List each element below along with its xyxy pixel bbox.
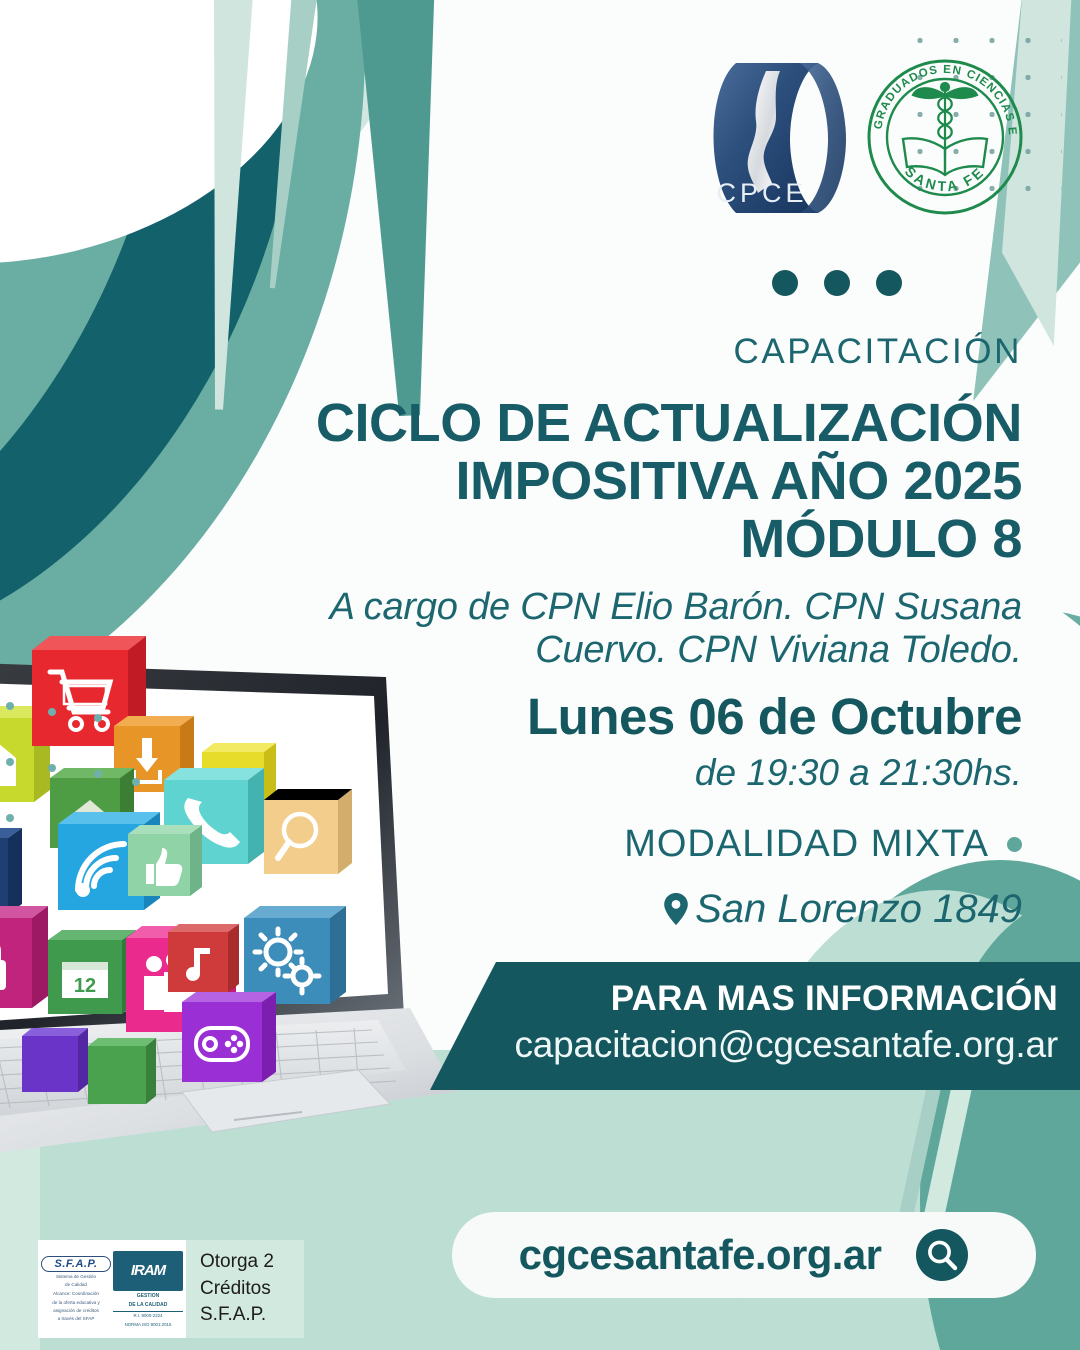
sfap-logo: S.F.A.P. Sistema de Gestión de Calidad A… — [41, 1256, 111, 1322]
divider-dot — [876, 270, 902, 296]
iram-norm-1: R.I. 9000-2224 — [113, 1311, 183, 1319]
search-icon[interactable] — [915, 1228, 969, 1282]
location-pin-icon — [663, 892, 689, 926]
kicker-label: CAPACITACIÓN — [262, 334, 1022, 369]
cgce-seal: COLEGIO DE GRADUADOS EN CIENCIAS ECONOMI… — [865, 57, 1025, 217]
speakers-text: A cargo de CPN Elio Barón. CPN Susana Cu… — [262, 586, 1022, 671]
iram-caption-2: DE LA CALIDAD — [113, 1302, 183, 1309]
quality-logos: S.F.A.P. Sistema de Gestión de Calidad A… — [38, 1240, 186, 1338]
title-line-3: MÓDULO 8 — [262, 511, 1022, 569]
sfap-mark: S.F.A.P. — [41, 1256, 111, 1272]
modality-label: MODALIDAD MIXTA — [624, 825, 989, 863]
bullet-dot-icon — [1007, 837, 1022, 852]
speakers-line-1: A cargo de CPN Elio Barón. CPN Susana — [262, 586, 1022, 629]
divider-dot — [824, 270, 850, 296]
website-url[interactable]: cgcesantafe.org.ar — [519, 1231, 882, 1279]
svg-text:12: 12 — [74, 975, 96, 997]
website-pill[interactable]: cgcesantafe.org.ar — [452, 1212, 1036, 1298]
address-label: San Lorenzo 1849 — [695, 889, 1022, 929]
event-modality: MODALIDAD MIXTA — [262, 825, 1022, 863]
sfap-caption-5: asignación de créditos — [41, 1308, 111, 1314]
sfap-caption-3: Alcance: Coordinación — [41, 1291, 111, 1297]
more-info-heading: PARA MAS INFORMACIÓN — [611, 979, 1058, 1019]
sfap-credits-box: S.F.A.P. Sistema de Gestión de Calidad A… — [38, 1240, 304, 1338]
iram-norm-2: NORMA ISO 9001:2015 — [113, 1321, 183, 1328]
dots-divider — [772, 270, 902, 296]
event-date: Lunes 06 de Octubre — [262, 691, 1022, 742]
iram-logo: IRAM GESTION DE LA CALIDAD R.I. 9000-222… — [113, 1251, 183, 1328]
main-content: CAPACITACIÓN CICLO DE ACTUALIZACIÓN IMPO… — [262, 334, 1022, 929]
title-line-2: IMPOSITIVA AÑO 2025 — [262, 453, 1022, 511]
more-info-band: PARA MAS INFORMACIÓN capacitacion@cgcesa… — [430, 962, 1080, 1090]
page-title: CICLO DE ACTUALIZACIÓN IMPOSITIVA AÑO 20… — [262, 395, 1022, 568]
logo-group: CPCE COLEGIO DE GRADUADOS EN CIENCIAS EC… — [700, 55, 1030, 230]
sfap-caption-2: de Calidad — [41, 1282, 111, 1288]
sfap-caption-6: a través del SFAP — [41, 1316, 111, 1322]
credits-line-2: Créditos — [200, 1276, 304, 1303]
sfap-caption-4: de la oferta educativa y — [41, 1300, 111, 1306]
event-time: de 19:30 a 21:30hs. — [262, 754, 1022, 791]
iram-caption-1: GESTION — [113, 1293, 183, 1300]
credits-line-3: S.F.A.P. — [200, 1302, 304, 1329]
credits-line-1: Otorga 2 — [200, 1249, 304, 1276]
title-line-1: CICLO DE ACTUALIZACIÓN — [262, 395, 1022, 453]
sfap-caption-1: Sistema de Gestión — [41, 1274, 111, 1280]
iram-mark: IRAM — [113, 1251, 183, 1291]
event-address: San Lorenzo 1849 — [262, 889, 1022, 929]
credits-text: Otorga 2 Créditos S.F.A.P. — [186, 1240, 304, 1338]
cpce-wordmark: CPCE — [716, 178, 807, 208]
contact-email[interactable]: capacitacion@cgcesantafe.org.ar — [514, 1024, 1058, 1066]
speakers-line-2: Cuervo. CPN Viviana Toledo. — [262, 629, 1022, 672]
poster-canvas: 12 — [0, 0, 1080, 1350]
divider-dot — [772, 270, 798, 296]
cpce-logo: CPCE — [700, 55, 860, 220]
